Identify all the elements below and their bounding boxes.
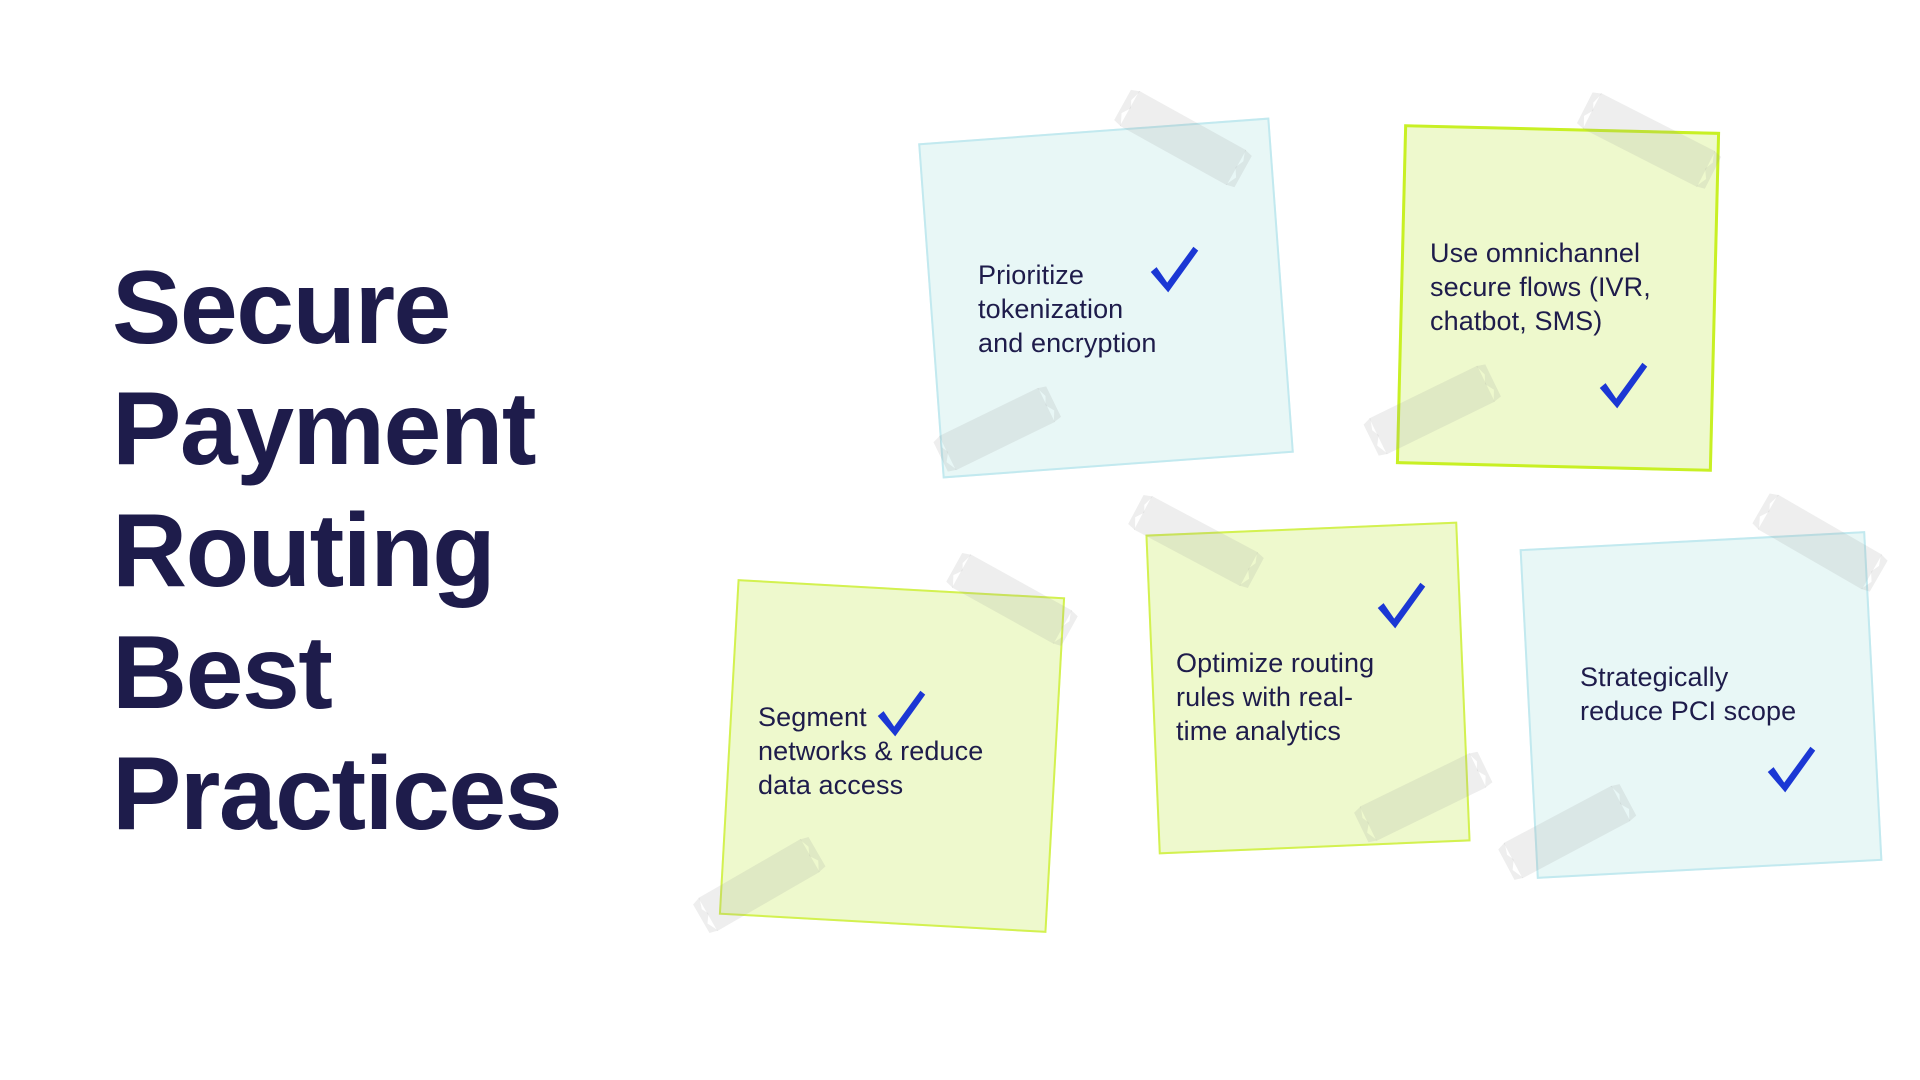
sticky-note-omnichannel-secure-flows[interactable]: Use omnichannel secure flows (IVR, chatb…	[1400, 128, 1730, 483]
sticky-note-reduce-pci-scope[interactable]: Strategically reduce PCI scope	[1528, 540, 1898, 910]
checkmark-icon	[1370, 576, 1432, 638]
checkmark-icon	[1760, 740, 1822, 802]
slide-canvas: Secure Payment Routing Best Practices Pr…	[0, 0, 1920, 1080]
checkmark-icon	[1143, 240, 1205, 302]
sticky-notes-board: Prioritize tokenization and encryption U…	[0, 0, 1920, 1080]
sticky-note-optimize-routing-rules[interactable]: Optimize routing rules with real- time a…	[1152, 528, 1482, 868]
checkmark-icon	[1592, 356, 1654, 418]
sticky-note-segment-networks[interactable]: Segment networks & reduce data access	[728, 588, 1068, 948]
sticky-note-prioritize-tokenization[interactable]: Prioritize tokenization and encryption	[930, 130, 1290, 490]
checkmark-icon	[870, 684, 932, 746]
note-text: Optimize routing rules with real- time a…	[1176, 646, 1446, 748]
note-text: Use omnichannel secure flows (IVR, chatb…	[1430, 236, 1710, 338]
note-text: Strategically reduce PCI scope	[1580, 660, 1860, 728]
